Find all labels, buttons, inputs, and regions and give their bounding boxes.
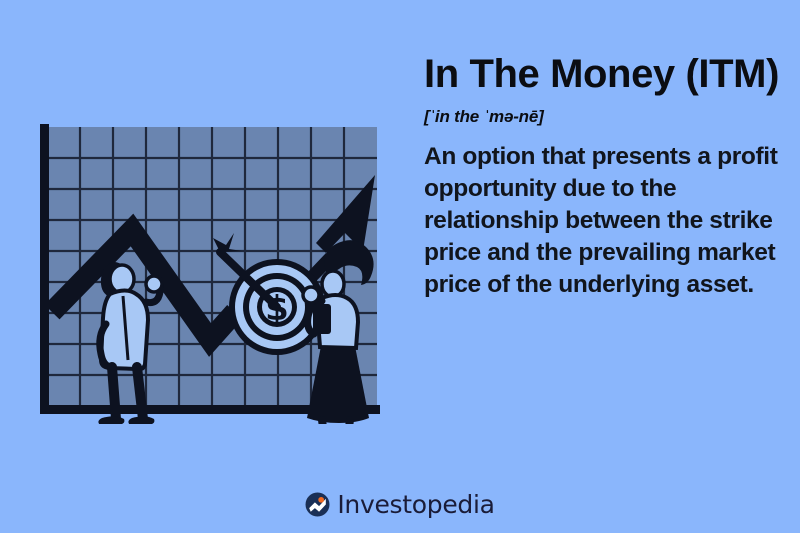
term-pronunciation: [ˈin the ˈmə-nē] xyxy=(424,107,784,127)
chart-x-axis xyxy=(40,405,380,414)
investopedia-wordmark: Investopedia xyxy=(337,490,494,519)
term-definition: An option that presents a profit opportu… xyxy=(424,141,784,300)
chart-y-axis xyxy=(40,124,49,414)
investopedia-logo-icon xyxy=(305,492,330,517)
infographic-card: $ xyxy=(0,0,800,533)
term-title: In The Money (ITM) xyxy=(424,52,784,97)
stock-chart-with-target-illustration: $ xyxy=(30,112,390,424)
investopedia-logo: Investopedia xyxy=(0,490,800,519)
definition-panel: In The Money (ITM) [ˈin the ˈmə-nē] An o… xyxy=(424,52,784,300)
